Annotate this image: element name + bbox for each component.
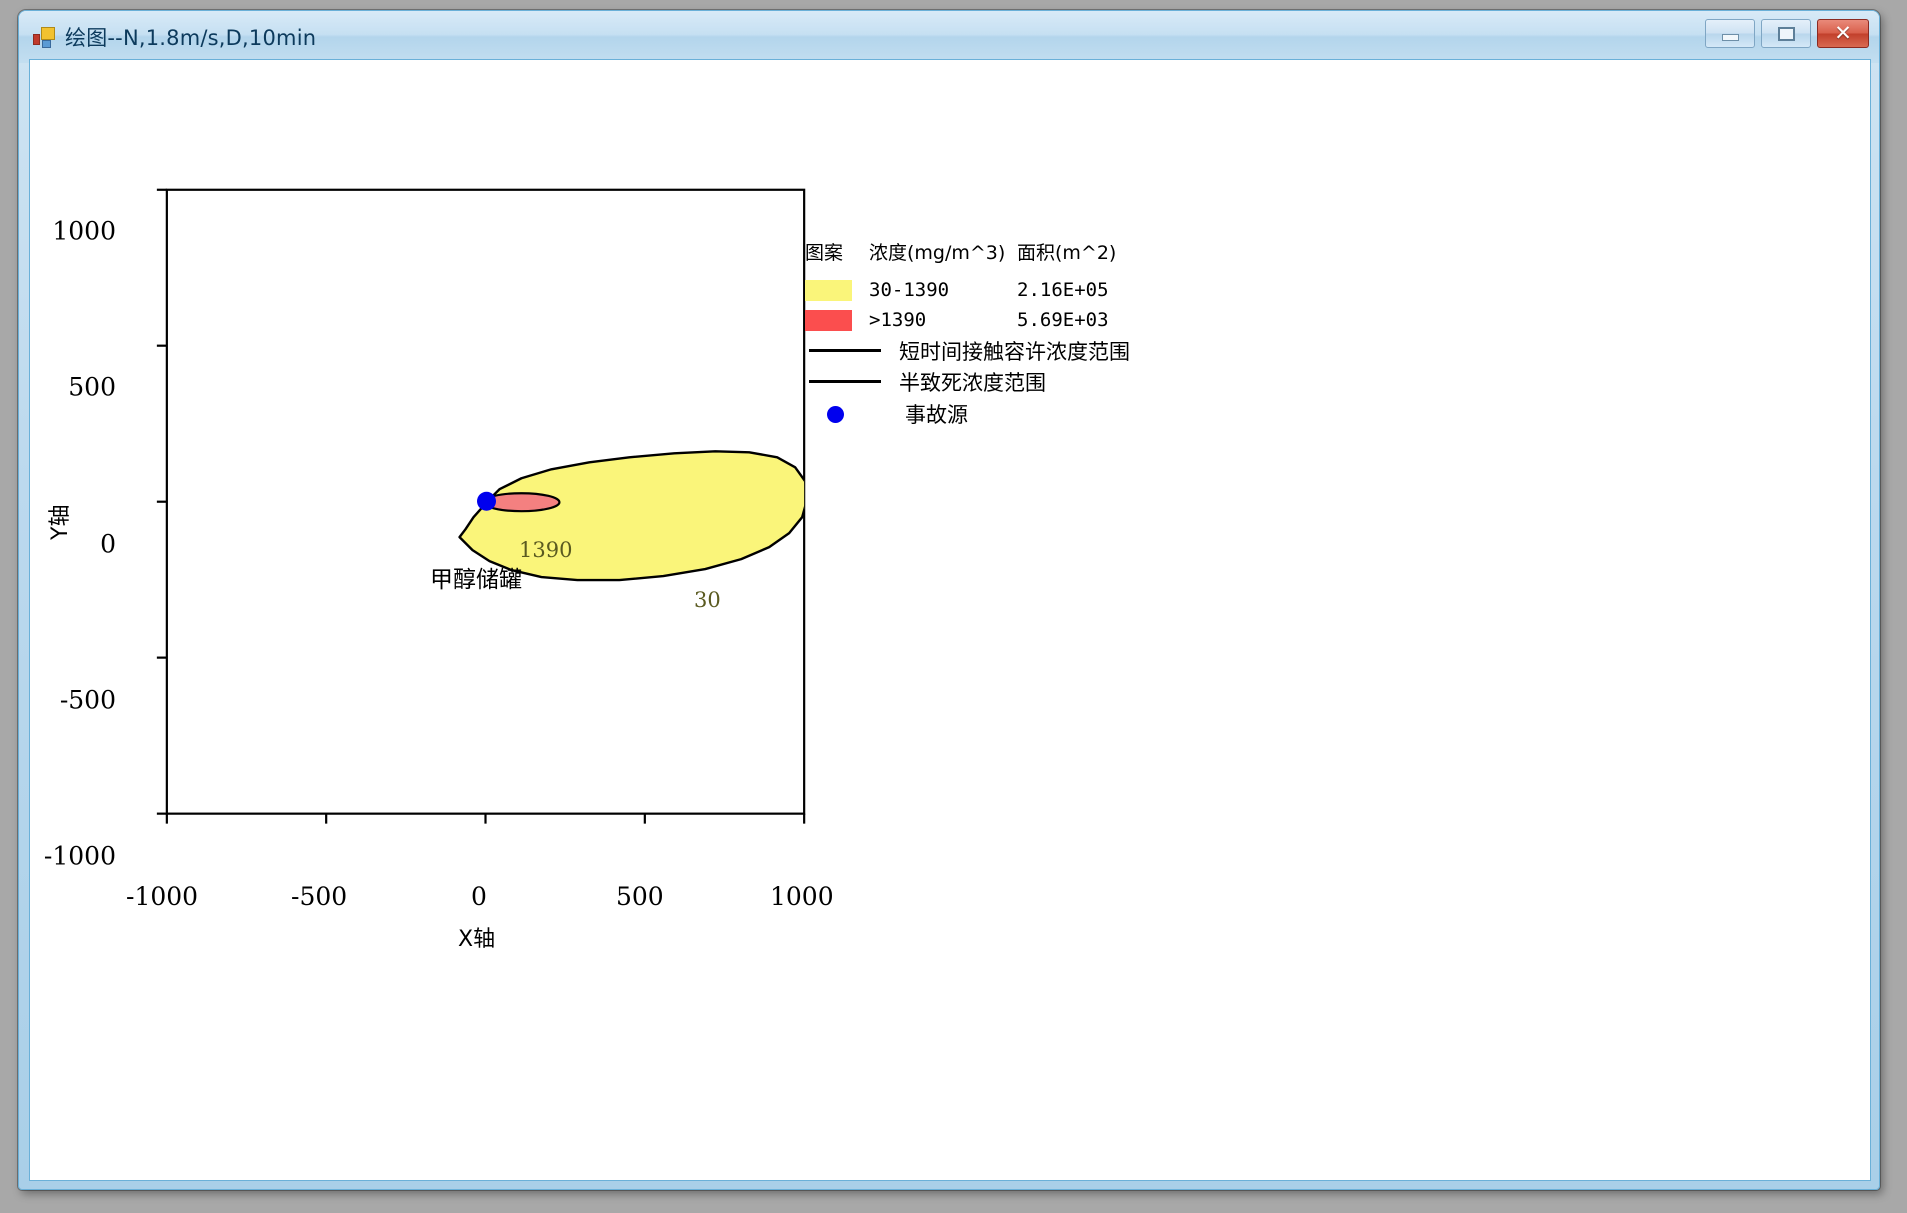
legend-concentration-red: >1390	[869, 309, 1017, 331]
legend-label-source: 事故源	[905, 399, 968, 429]
window-title: 绘图--N,1.8m/s,D,10min	[65, 22, 316, 52]
y-axis-title: Y轴	[42, 505, 74, 540]
plot-window: 绘图--N,1.8m/s,D,10min ✕	[18, 10, 1880, 1190]
close-icon: ✕	[1834, 23, 1852, 44]
y-tick-label-1000: 1000	[52, 217, 116, 246]
legend-row-red: >1390 5.69E+03	[805, 305, 1135, 335]
y-tick-label-500: 500	[68, 373, 116, 402]
legend-swatch-cell-red	[805, 310, 869, 331]
x-tick-label-1000: 1000	[770, 882, 834, 911]
legend-dot-icon-source	[827, 406, 844, 423]
legend-line-icon-stel	[809, 349, 881, 352]
window-controls: ✕	[1705, 19, 1869, 48]
legend-line-cell-lc50	[805, 380, 885, 383]
x-tick-label-0: 0	[471, 882, 487, 911]
minimize-icon	[1722, 34, 1739, 41]
legend-row-source: 事故源	[805, 397, 1135, 431]
legend-row-lc50: 半致死浓度范围	[805, 366, 1135, 397]
contour-label-inner: 1390	[519, 538, 572, 562]
legend-header-row: 图案 浓度(mg/m^3) 面积(m^2)	[805, 238, 1135, 265]
plot-client-area: 1000 500 0 -500 -1000 -1000 -500 0 500 1…	[29, 59, 1871, 1181]
dispersion-plot	[30, 60, 1870, 1180]
legend-label-stel: 短时间接触容许浓度范围	[899, 336, 1130, 366]
minimize-button[interactable]	[1705, 19, 1755, 48]
legend-concentration-yellow: 30-1390	[869, 279, 1017, 301]
legend-area-red: 5.69E+03	[1017, 309, 1109, 331]
legend-point-cell-source	[805, 406, 885, 423]
legend-row-yellow: 30-1390 2.16E+05	[805, 275, 1135, 305]
x-tick-label-m1000: -1000	[126, 882, 198, 911]
legend-header-pattern: 图案	[805, 238, 869, 265]
contour-label-outer: 30	[694, 588, 721, 612]
legend-swatch-red	[805, 310, 852, 331]
legend-line-icon-lc50	[809, 380, 881, 383]
close-button[interactable]: ✕	[1817, 19, 1869, 48]
title-bar[interactable]: 绘图--N,1.8m/s,D,10min ✕	[19, 11, 1879, 63]
legend-label-lc50: 半致死浓度范围	[899, 367, 1046, 397]
legend-header-area: 面积(m^2)	[1017, 238, 1116, 265]
legend: 图案 浓度(mg/m^3) 面积(m^2) 30-1390 2.16E+05 >…	[805, 238, 1135, 431]
x-axis-title: X轴	[458, 921, 495, 953]
y-tick-label-m1000: -1000	[44, 842, 116, 871]
x-tick-label-500: 500	[616, 882, 664, 911]
maximize-button[interactable]	[1761, 19, 1811, 48]
chart-app-icon	[33, 27, 55, 49]
x-tick-label-m500: -500	[291, 882, 347, 911]
y-tick-label-m500: -500	[60, 686, 116, 715]
legend-header-concentration: 浓度(mg/m^3)	[869, 238, 1017, 265]
maximize-icon	[1778, 27, 1795, 41]
source-point-marker	[477, 492, 496, 511]
legend-line-cell-stel	[805, 349, 885, 352]
legend-area-yellow: 2.16E+05	[1017, 279, 1109, 301]
legend-swatch-yellow	[805, 280, 852, 301]
source-name-label: 甲醇储罐	[430, 560, 522, 594]
legend-swatch-cell-yellow	[805, 280, 869, 301]
legend-row-stel: 短时间接触容许浓度范围	[805, 335, 1135, 366]
y-tick-label-0: 0	[100, 530, 116, 559]
